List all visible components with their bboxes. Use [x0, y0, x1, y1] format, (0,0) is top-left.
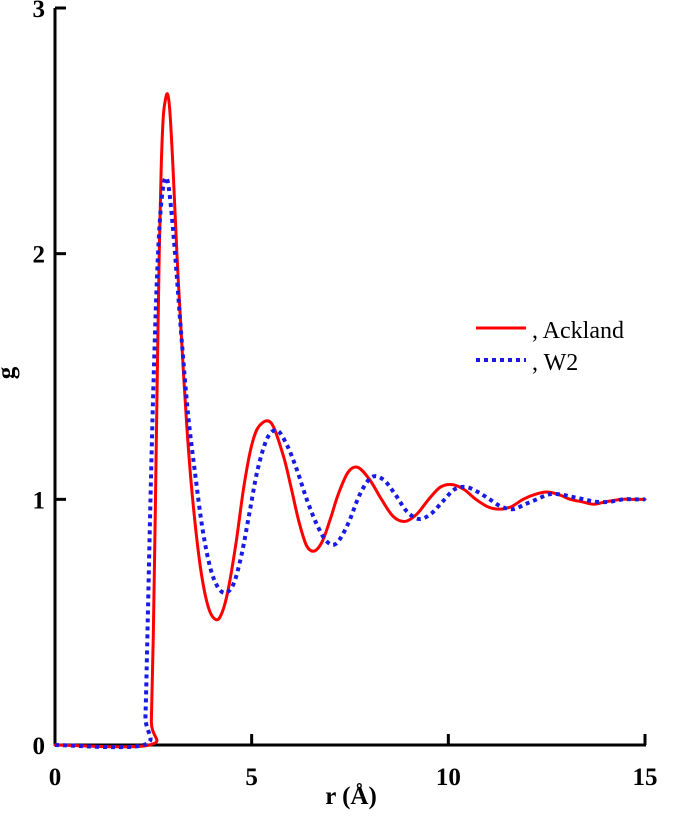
x-axis-title: r (Å) [325, 782, 377, 810]
x-tick-label: 15 [633, 764, 658, 791]
y-tick-label: 0 [33, 733, 46, 760]
y-axis-title: g [0, 366, 20, 379]
x-tick-label: 5 [245, 764, 258, 791]
legend-label: , W2 [532, 350, 578, 376]
y-tick-label: 1 [33, 487, 46, 514]
x-tick-label: 0 [49, 764, 62, 791]
x-tick-label: 10 [436, 764, 461, 791]
legend-label: , Ackland [532, 318, 624, 344]
rdf-line-chart: 051015 0123 r (Å) g , Ackland, W2 [0, 0, 700, 821]
y-tick-label: 2 [33, 242, 46, 269]
y-tick-label: 3 [33, 0, 46, 23]
chart-background [0, 0, 700, 821]
chart-figure: 051015 0123 r (Å) g , Ackland, W2 [0, 0, 700, 821]
